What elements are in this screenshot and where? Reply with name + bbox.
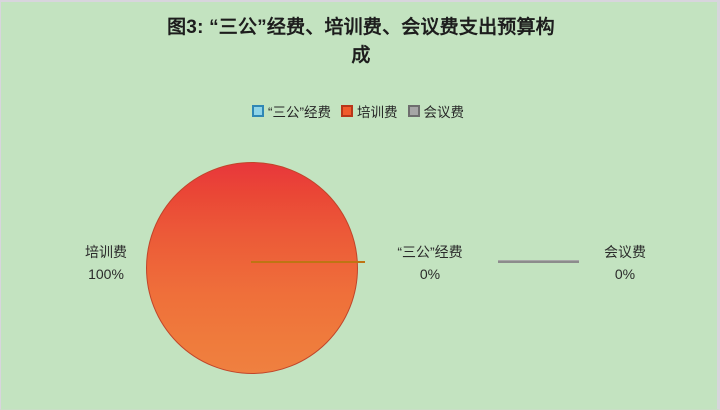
leader-line-training — [251, 261, 365, 263]
data-label-training-name: 培训费 — [85, 244, 127, 260]
chart-title-line-1: 图3: “三公”经费、培训费、会议费支出预算构 — [167, 17, 555, 38]
data-label-sangong-value: 0% — [370, 264, 490, 286]
chart-title-line-2: 成 — [351, 45, 370, 66]
data-label-meeting: 会议费 0% — [573, 242, 677, 285]
legend-label-meeting: 会议费 — [424, 101, 465, 121]
legend-label-training: 培训费 — [357, 101, 398, 121]
pie-slice-training[interactable] — [146, 162, 358, 374]
data-label-training-value: 100% — [57, 264, 155, 286]
data-label-training: 培训费 100% — [57, 242, 155, 285]
data-label-sangong: “三公”经费 0% — [370, 242, 490, 285]
legend-label-sangong: “三公”经费 — [268, 101, 331, 121]
legend-item-sangong[interactable]: “三公”经费 — [252, 101, 331, 121]
legend-item-meeting[interactable]: 会议费 — [408, 101, 465, 121]
data-label-sangong-name: “三公”经费 — [397, 244, 462, 260]
leader-line-meeting — [498, 260, 579, 263]
data-label-meeting-name: 会议费 — [604, 244, 646, 260]
legend-swatch-meeting-icon — [408, 105, 420, 117]
chart-legend: “三公”经费 培训费 会议费 — [1, 101, 720, 121]
pie-graphic — [146, 162, 358, 374]
legend-swatch-training-icon — [341, 105, 353, 117]
data-label-meeting-value: 0% — [573, 264, 677, 286]
legend-swatch-sangong-icon — [252, 105, 264, 117]
chart-title: 图3: “三公”经费、培训费、会议费支出预算构 成 — [61, 14, 661, 69]
legend-item-training[interactable]: 培训费 — [341, 101, 398, 121]
pie-chart-figure: 图3: “三公”经费、培训费、会议费支出预算构 成 “三公”经费 培训费 会议费… — [0, 0, 720, 410]
